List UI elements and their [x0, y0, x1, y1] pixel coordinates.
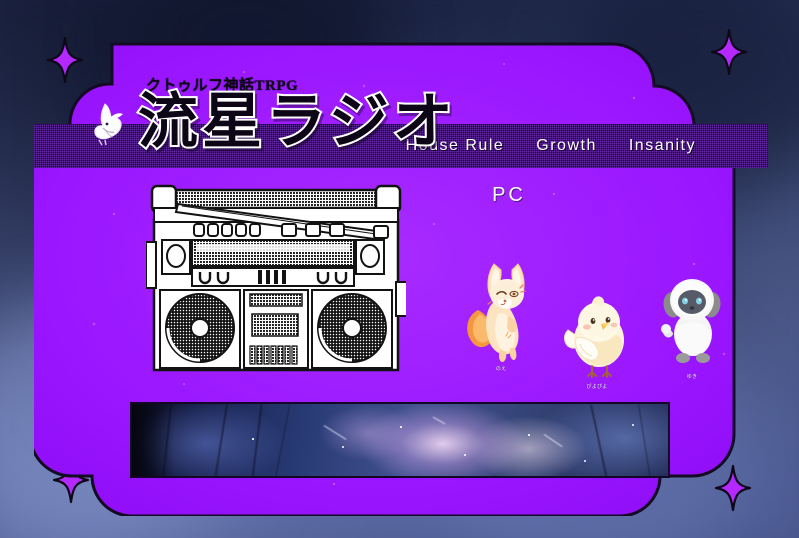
pc-character-row: のえ	[429, 242, 749, 392]
pc-card-chick[interactable]: ぴよぴよ	[547, 270, 647, 390]
pc-name-chick: ぴよぴよ	[547, 383, 647, 390]
pc-section-heading: PC	[449, 184, 569, 207]
dog-character-icon	[642, 260, 742, 372]
nav-item-growth[interactable]: Growth	[536, 137, 597, 155]
pc-name-fox: のえ	[451, 365, 551, 372]
fox-character-icon	[451, 252, 551, 364]
pc-card-dog[interactable]: ゆき	[642, 260, 742, 380]
chick-character-icon	[547, 270, 647, 382]
galaxy-banner[interactable]	[130, 402, 670, 478]
pc-name-dog: ゆき	[642, 373, 742, 380]
main-panel: House Rule Growth Insanity クトゥルフ神話TRPG 流…	[34, 24, 768, 516]
boombox-illustration	[146, 180, 406, 380]
bird-mascot-icon	[90, 100, 130, 152]
pc-card-fox[interactable]: のえ	[451, 252, 551, 372]
galaxy-banner-image	[132, 404, 668, 476]
nav-item-insanity[interactable]: Insanity	[629, 137, 696, 155]
page-title: 流星ラジオ	[138, 92, 457, 152]
